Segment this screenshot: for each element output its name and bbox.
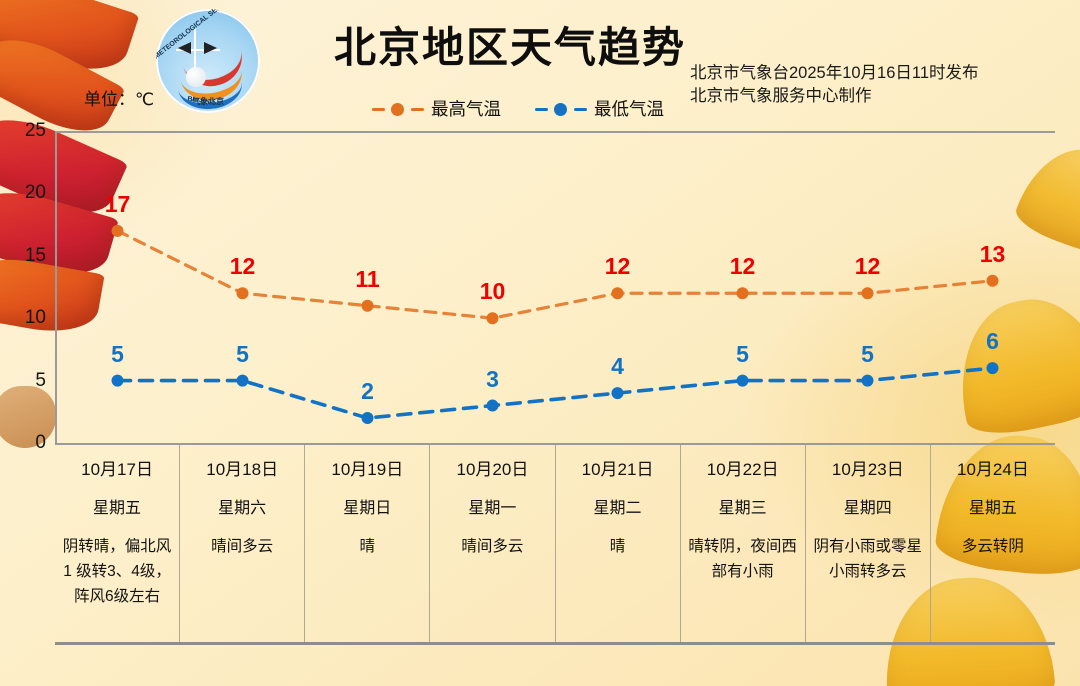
data-point-label: 2	[361, 378, 374, 405]
data-point-marker	[737, 375, 749, 387]
data-point-label: 12	[855, 253, 881, 280]
series-lines	[55, 131, 1055, 443]
data-point-label: 5	[861, 341, 874, 368]
forecast-date: 10月17日	[60, 455, 174, 480]
forecast-weekday: 星期二	[561, 494, 675, 518]
forecast-weekday: 星期五	[936, 494, 1050, 518]
chart-legend: 最高气温最低气温	[372, 96, 664, 121]
dashed-line-dot-icon	[535, 102, 587, 116]
y-axis-tick-25: 25	[25, 120, 46, 142]
beijing-meteorological-service-logo: METEOROLOGICAL SERVICE BEIJING 气象北京	[156, 9, 260, 113]
page-title: 北京地区天气趋势	[330, 14, 690, 75]
data-point-label: 17	[105, 191, 131, 218]
logo-cn-text: 气象北京	[156, 96, 260, 107]
data-point-marker	[862, 287, 874, 299]
data-point-label: 3	[486, 366, 499, 393]
data-point-marker	[487, 312, 499, 324]
forecast-weekday: 星期六	[185, 494, 299, 518]
issuer-line-2: 北京市气象服务中心制作	[690, 85, 979, 108]
forecast-description: 阴转晴，偏北风 1 级转3、4级，阵风6级左右	[60, 534, 174, 609]
forecast-description: 晴	[310, 534, 424, 559]
forecast-weekday: 星期日	[310, 494, 424, 518]
data-point-marker	[362, 300, 374, 312]
data-point-label: 12	[605, 253, 631, 280]
logo-radome	[186, 67, 206, 87]
legend-label: 最低气温	[594, 96, 664, 121]
data-point-marker	[237, 287, 249, 299]
legend-item-1: 最高气温	[372, 96, 501, 121]
forecast-date: 10月20日	[435, 455, 549, 480]
forecast-date: 10月22日	[686, 455, 800, 480]
forecast-column-1: 10月17日星期五阴转晴，偏北风 1 级转3、4级，阵风6级左右	[55, 445, 180, 642]
data-point-marker	[987, 275, 999, 287]
data-point-marker	[237, 375, 249, 387]
forecast-weekday: 星期一	[435, 494, 549, 518]
forecast-column-5: 10月21日星期二晴	[556, 445, 681, 642]
issuer-line-1: 北京市气象台2025年10月16日11时发布	[690, 62, 979, 85]
legend-label: 最高气温	[431, 96, 501, 121]
data-point-label: 13	[980, 241, 1006, 268]
y-axis-tick-10: 10	[25, 307, 46, 329]
data-point-marker	[987, 362, 999, 374]
data-point-label: 10	[480, 278, 506, 305]
legend-item-2: 最低气温	[535, 96, 664, 121]
forecast-weekday: 星期三	[686, 494, 800, 518]
data-point-marker	[862, 375, 874, 387]
data-point-marker	[362, 412, 374, 424]
y-axis-labels: 0510152025	[0, 0, 55, 686]
issuer-info: 北京市气象台2025年10月16日11时发布 北京市气象服务中心制作	[690, 62, 979, 108]
data-point-marker	[612, 287, 624, 299]
forecast-column-2: 10月18日星期六晴间多云	[180, 445, 305, 642]
y-axis-tick-5: 5	[35, 370, 46, 392]
data-point-label: 5	[236, 341, 249, 368]
data-point-marker	[487, 400, 499, 412]
y-axis-tick-0: 0	[35, 432, 46, 454]
data-point-marker	[112, 375, 124, 387]
data-point-label: 12	[730, 253, 756, 280]
y-axis-tick-15: 15	[25, 245, 46, 267]
y-axis-tick-20: 20	[25, 182, 46, 204]
series-line-2	[118, 368, 993, 418]
forecast-description: 晴间多云	[435, 534, 549, 559]
forecast-column-7: 10月23日星期四阴有小雨或零星小雨转多云	[806, 445, 931, 642]
data-point-label: 12	[230, 253, 256, 280]
forecast-description: 阴有小雨或零星小雨转多云	[811, 534, 925, 584]
forecast-description: 晴间多云	[185, 534, 299, 559]
forecast-date: 10月19日	[310, 455, 424, 480]
data-point-marker	[612, 387, 624, 399]
forecast-date: 10月24日	[936, 455, 1050, 480]
data-point-label: 6	[986, 328, 999, 355]
unit-label: 单位：℃	[84, 85, 154, 110]
forecast-description: 多云转阴	[936, 534, 1050, 559]
forecast-column-3: 10月19日星期日晴	[305, 445, 430, 642]
forecast-column-6: 10月22日星期三晴转阴，夜间西部有小雨	[681, 445, 806, 642]
forecast-column-4: 10月20日星期一晴间多云	[430, 445, 555, 642]
forecast-description: 晴转阴，夜间西部有小雨	[686, 534, 800, 584]
data-point-marker	[112, 225, 124, 237]
forecast-description: 晴	[561, 534, 675, 559]
data-point-label: 5	[736, 341, 749, 368]
data-point-label: 4	[611, 353, 624, 380]
chart-plot-area: 171211101212121355234556	[55, 131, 1055, 443]
forecast-table: 10月17日星期五阴转晴，偏北风 1 级转3、4级，阵风6级左右10月18日星期…	[55, 443, 1055, 645]
dashed-line-dot-icon	[372, 102, 424, 116]
forecast-date: 10月23日	[811, 455, 925, 480]
data-point-label: 11	[355, 266, 379, 293]
data-point-marker	[737, 287, 749, 299]
forecast-column-8: 10月24日星期五多云转阴	[931, 445, 1055, 642]
forecast-weekday: 星期四	[811, 494, 925, 518]
forecast-date: 10月18日	[185, 455, 299, 480]
forecast-date: 10月21日	[561, 455, 675, 480]
forecast-weekday: 星期五	[60, 494, 174, 518]
data-point-label: 5	[111, 341, 124, 368]
weather-trend-poster: METEOROLOGICAL SERVICE BEIJING 气象北京 北京地区…	[0, 0, 1080, 686]
